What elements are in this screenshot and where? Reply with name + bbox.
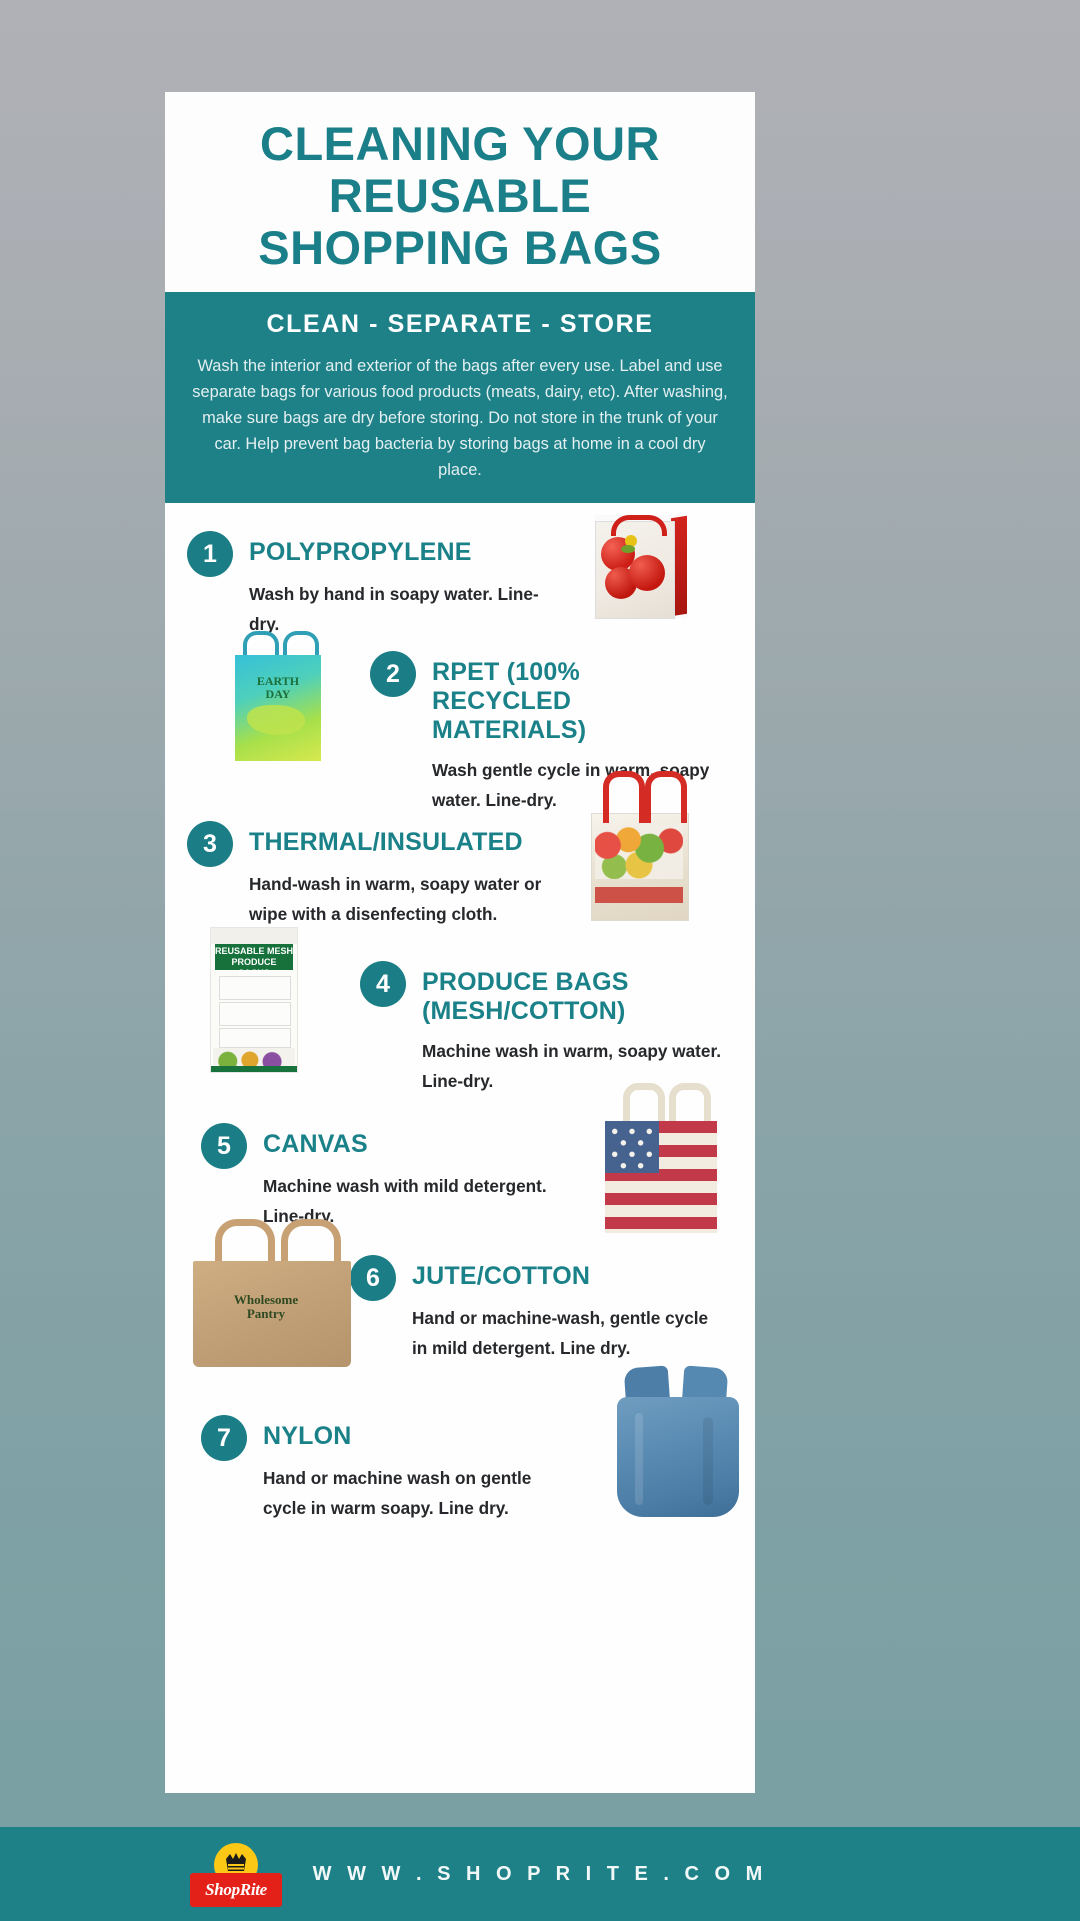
- item-1-header: 1 POLYPROPYLENE: [187, 531, 527, 577]
- item-1-heading: POLYPROPYLENE: [249, 531, 472, 567]
- logo-wordmark: ShopRite: [205, 1880, 267, 1900]
- item-6-header: 6 JUTE/COTTON: [350, 1255, 720, 1301]
- item-3-header: 3 THERMAL/INSULATED: [187, 821, 547, 867]
- list-item-6: 6 JUTE/COTTON Hand or machine-wash, gent…: [350, 1255, 720, 1363]
- package-label-text: REUSABLE MESH PRODUCE SACKS: [215, 944, 293, 979]
- list-item-1: 1 POLYPROPYLENE Wash by hand in soapy wa…: [187, 531, 527, 639]
- banner-headline: CLEAN - SEPARATE - STORE: [187, 310, 733, 339]
- bag-fold-shadow: [703, 1417, 713, 1505]
- earth-day-line-1: EARTH: [257, 674, 299, 688]
- mesh-sack: [219, 1028, 291, 1048]
- item-4-number-badge: 4: [360, 961, 406, 1007]
- list-item-4: 4 PRODUCE BAGS (MESH/COTTON) Machine was…: [360, 961, 730, 1096]
- item-3-heading: THERMAL/INSULATED: [249, 821, 523, 857]
- crown-icon: [224, 1851, 248, 1875]
- jute-logo-line-1: Wholesome: [234, 1292, 298, 1307]
- bag-handle: [603, 771, 645, 823]
- produce-sacks-package-image: REUSABLE MESH PRODUCE SACKS: [210, 927, 298, 1073]
- list-item-5: 5 CANVAS Machine wash with mild detergen…: [201, 1123, 551, 1231]
- item-7-heading: NYLON: [263, 1415, 352, 1451]
- mesh-sack: [219, 976, 291, 1000]
- tomato-icon: [629, 555, 665, 591]
- vegetables-graphic: [595, 823, 683, 879]
- earth-day-label: EARTH DAY: [235, 675, 321, 701]
- item-5-header: 5 CANVAS: [201, 1123, 551, 1169]
- item-6-heading: JUTE/COTTON: [412, 1255, 590, 1291]
- item-7-description: Hand or machine wash on gentle cycle in …: [263, 1463, 553, 1523]
- intro-banner: CLEAN - SEPARATE - STORE Wash the interi…: [165, 292, 755, 503]
- website-url[interactable]: W W W . S H O P R I T E . C O M: [0, 1827, 1080, 1921]
- mesh-sack: [219, 1002, 291, 1026]
- item-1-description: Wash by hand in soapy water. Line-dry.: [249, 579, 539, 639]
- leaf-icon: [621, 545, 635, 553]
- canvas-flag-tote-image: [605, 1083, 717, 1233]
- title-line-1: CLEANING YOUR: [189, 118, 731, 170]
- item-6-description: Hand or machine-wash, gentle cycle in mi…: [412, 1303, 722, 1363]
- item-3-description: Hand-wash in warm, soapy water or wipe w…: [249, 869, 549, 929]
- item-4-header: 4 PRODUCE BAGS (MESH/COTTON): [360, 961, 730, 1026]
- list-item-3: 3 THERMAL/INSULATED Hand-wash in warm, s…: [187, 821, 547, 929]
- flag-stars: [605, 1121, 659, 1173]
- item-3-number-badge: 3: [187, 821, 233, 867]
- page-title: CLEANING YOUR REUSABLE SHOPPING BAGS: [189, 118, 731, 274]
- item-7-header: 7 NYLON: [201, 1415, 541, 1461]
- wholesome-pantry-logo: Wholesome Pantry: [211, 1293, 321, 1321]
- title-line-2: REUSABLE: [189, 170, 731, 222]
- item-1-number-badge: 1: [187, 531, 233, 577]
- item-7-number-badge: 7: [201, 1415, 247, 1461]
- jute-cotton-bag-image: Wholesome Pantry: [187, 1219, 357, 1367]
- item-5-number-badge: 5: [201, 1123, 247, 1169]
- item-5-heading: CANVAS: [263, 1123, 368, 1159]
- logo-wordmark-box: ShopRite: [190, 1873, 282, 1907]
- bag-handle: [611, 515, 667, 536]
- item-2-number-badge: 2: [370, 651, 416, 697]
- banner-paragraph: Wash the interior and exterior of the ba…: [187, 353, 733, 483]
- item-2-header: 2 RPET (100% RECYCLED MATERIALS): [370, 651, 720, 745]
- items-list: 1 POLYPROPYLENE Wash by hand in soapy wa…: [165, 503, 755, 1793]
- nylon-bag-image: [617, 1367, 739, 1517]
- list-item-7: 7 NYLON Hand or machine wash on gentle c…: [201, 1415, 541, 1523]
- rpet-earth-day-bag-image: EARTH DAY: [235, 631, 321, 761]
- item-4-heading: PRODUCE BAGS (MESH/COTTON): [422, 961, 672, 1026]
- bag-label-band: [595, 887, 683, 903]
- bag-handle: [645, 771, 687, 823]
- infographic-poster: CLEANING YOUR REUSABLE SHOPPING BAGS CLE…: [165, 92, 755, 1827]
- footer-bar: W W W . S H O P R I T E . C O M ShopRite: [0, 1827, 1080, 1921]
- package-header-strip: [211, 928, 297, 944]
- package-green-label: REUSABLE MESH PRODUCE SACKS: [215, 944, 293, 970]
- polypropylene-tomato-bag-image: [595, 515, 687, 619]
- earth-day-line-2: DAY: [266, 687, 291, 701]
- shoprite-logo: ShopRite: [190, 1843, 282, 1909]
- item-2-heading: RPET (100% RECYCLED MATERIALS): [432, 651, 712, 745]
- thermal-insulated-bag-image: [587, 771, 691, 919]
- jute-logo-line-2: Pantry: [247, 1306, 285, 1321]
- bag-fold-highlight: [635, 1413, 643, 1505]
- title-card: CLEANING YOUR REUSABLE SHOPPING BAGS: [165, 92, 755, 292]
- package-base-strip: [211, 1066, 297, 1072]
- title-line-3: SHOPPING BAGS: [189, 222, 731, 274]
